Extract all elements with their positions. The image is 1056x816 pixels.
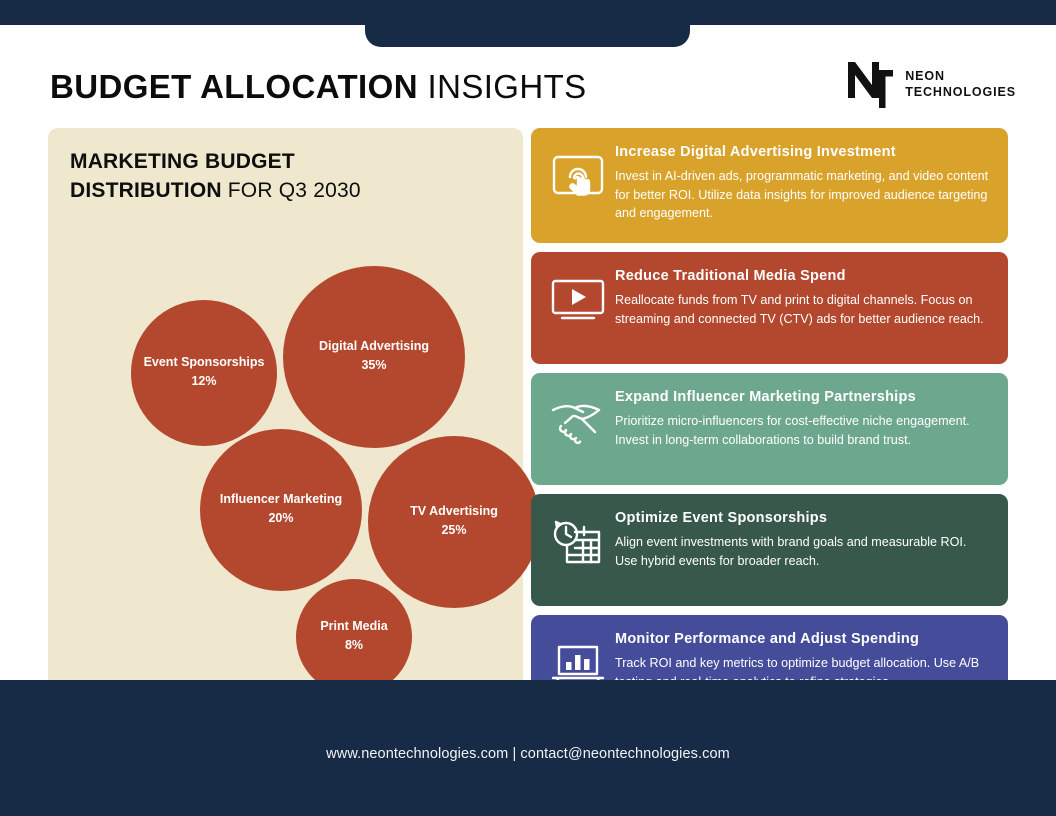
recommendation-card[interactable]: Optimize Event SponsorshipsAlign event i… bbox=[531, 494, 1008, 606]
card-title: Increase Digital Advertising Investment bbox=[615, 144, 992, 161]
recommendation-card[interactable]: Reduce Traditional Media SpendReallocate… bbox=[531, 252, 1008, 364]
bubble-label: Event Sponsorships bbox=[144, 355, 265, 371]
logo-wordmark: NEON TECHNOLOGIES bbox=[905, 68, 1016, 101]
card-body: Increase Digital Advertising InvestmentI… bbox=[611, 140, 992, 222]
recommendation-card[interactable]: Expand Influencer Marketing Partnerships… bbox=[531, 373, 1008, 485]
bubble-event-sponsorships: Event Sponsorships12% bbox=[131, 300, 277, 446]
tv-play-icon bbox=[545, 270, 611, 332]
bubble-digital-advertising: Digital Advertising35% bbox=[283, 266, 465, 448]
chart-title: MARKETING BUDGET DISTRIBUTION FOR Q3 203… bbox=[70, 148, 500, 206]
bubble-value: 8% bbox=[345, 635, 363, 655]
card-description: Reallocate funds from TV and print to di… bbox=[615, 291, 992, 328]
nt-monogram-icon bbox=[846, 58, 894, 110]
footer-contact: www.neontechnologies.com | contact@neont… bbox=[0, 746, 1056, 762]
bubble-print-media: Print Media8% bbox=[296, 579, 412, 695]
recommendation-card[interactable]: Increase Digital Advertising InvestmentI… bbox=[531, 128, 1008, 243]
tap-screen-icon bbox=[545, 146, 611, 208]
bubble-value: 35% bbox=[361, 355, 386, 375]
chart-title-line1: MARKETING BUDGET bbox=[70, 150, 295, 173]
card-body: Optimize Event SponsorshipsAlign event i… bbox=[611, 506, 992, 570]
logo-line-2: TECHNOLOGIES bbox=[905, 84, 1016, 101]
recommendation-card-list: Increase Digital Advertising InvestmentI… bbox=[531, 128, 1008, 736]
bubble-chart: Digital Advertising35%TV Advertising25%I… bbox=[48, 238, 523, 720]
logo-line-1: NEON bbox=[905, 68, 1016, 85]
top-navy-notch bbox=[365, 0, 690, 47]
chart-panel: MARKETING BUDGET DISTRIBUTION FOR Q3 203… bbox=[48, 128, 523, 720]
calendar-clock-icon bbox=[545, 512, 611, 574]
chart-title-line2: DISTRIBUTION bbox=[70, 179, 222, 202]
bubble-value: 12% bbox=[191, 371, 216, 391]
card-title: Monitor Performance and Adjust Spending bbox=[615, 631, 992, 648]
bubble-tv-advertising: TV Advertising25% bbox=[368, 436, 540, 608]
bubble-influencer-marketing: Influencer Marketing20% bbox=[200, 429, 362, 591]
bubble-label: Digital Advertising bbox=[319, 339, 429, 355]
bubble-label: Influencer Marketing bbox=[220, 492, 342, 508]
chart-title-light: FOR Q3 2030 bbox=[228, 179, 361, 202]
card-body: Expand Influencer Marketing Partnerships… bbox=[611, 385, 992, 449]
page-title-light: INSIGHTS bbox=[428, 68, 587, 105]
bubble-value: 20% bbox=[268, 508, 293, 528]
bubble-value: 25% bbox=[441, 520, 466, 540]
card-title: Expand Influencer Marketing Partnerships bbox=[615, 389, 992, 406]
handshake-icon bbox=[545, 391, 611, 453]
brand-logo: NEON TECHNOLOGIES bbox=[846, 58, 1016, 110]
card-description: Align event investments with brand goals… bbox=[615, 533, 992, 570]
card-description: Prioritize micro-influencers for cost-ef… bbox=[615, 412, 992, 449]
bubble-label: Print Media bbox=[320, 619, 387, 635]
infographic-page: BUDGET ALLOCATION INSIGHTS NEON TECHNOLO… bbox=[0, 0, 1056, 816]
card-body: Reduce Traditional Media SpendReallocate… bbox=[611, 264, 992, 328]
page-title: BUDGET ALLOCATION INSIGHTS bbox=[50, 68, 587, 106]
card-description: Invest in AI-driven ads, programmatic ma… bbox=[615, 167, 992, 222]
card-title: Reduce Traditional Media Spend bbox=[615, 268, 992, 285]
bubble-label: TV Advertising bbox=[410, 504, 498, 520]
card-title: Optimize Event Sponsorships bbox=[615, 510, 992, 527]
page-title-bold: BUDGET ALLOCATION bbox=[50, 68, 418, 105]
